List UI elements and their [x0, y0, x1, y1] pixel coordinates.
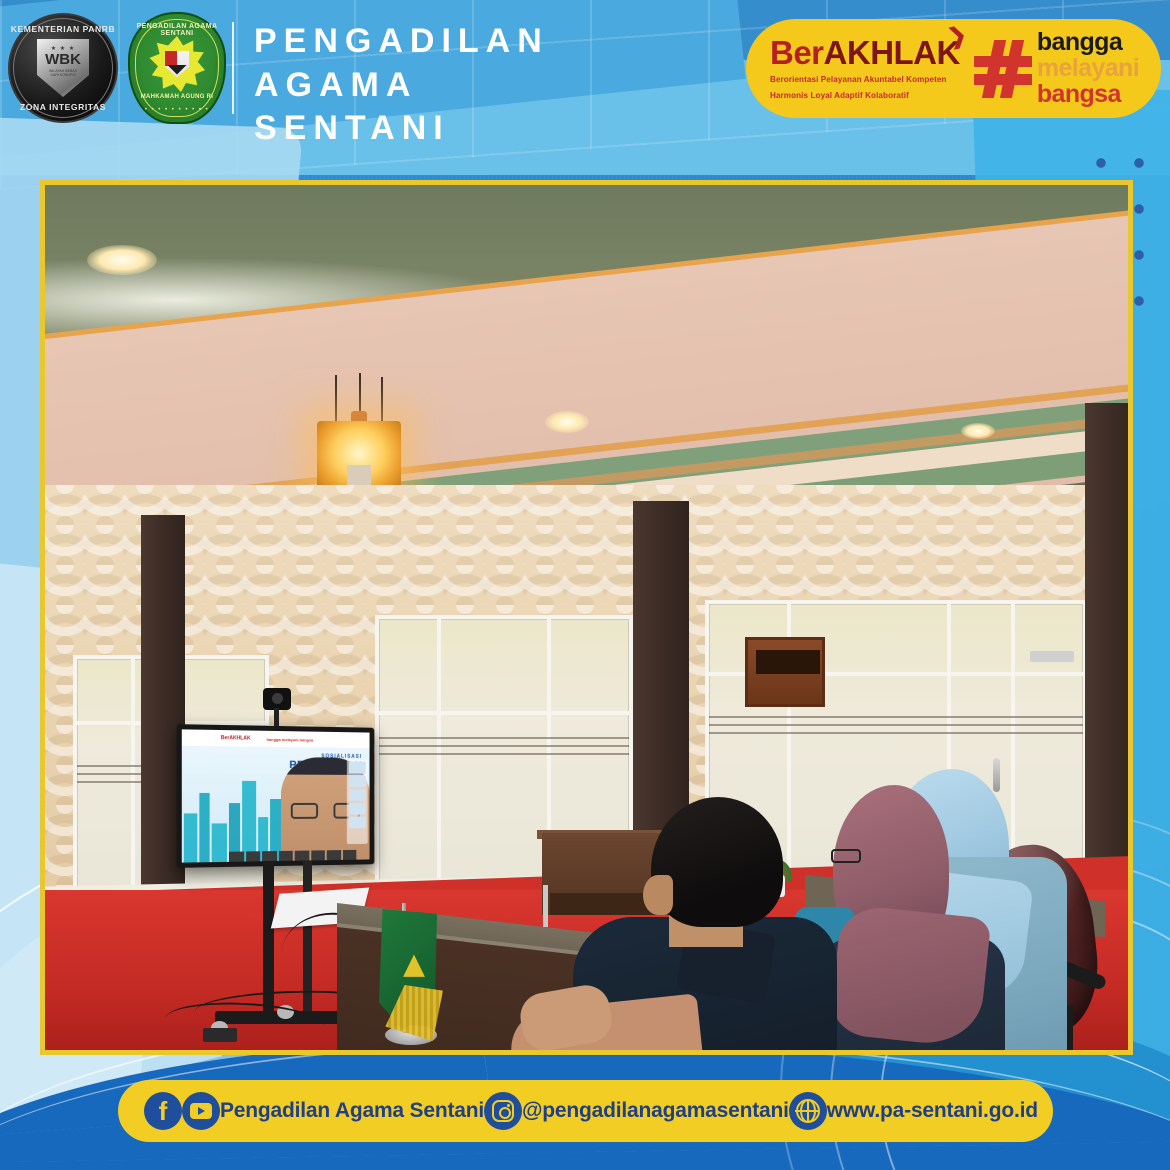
person-foreground-ear — [643, 875, 673, 915]
berakhlak-wordmark: BerAKHLAK❯ — [770, 36, 960, 69]
footer-contact-bar: f Pengadilan Agama Sentani @pengadilanag… — [118, 1080, 1053, 1142]
instagram-handle-label[interactable]: @pengadilanagamasentani — [522, 1099, 789, 1123]
instagram-icon[interactable] — [484, 1092, 522, 1130]
poster-canvas: KEMENTERIAN PANRB ZONA INTEGRITAS ★ ★ ★ … — [0, 0, 1170, 1170]
tv-bottom-thumbnails — [229, 850, 356, 862]
wbk-shield-sub2: DARI KORUPSI — [50, 73, 75, 77]
facebook-icon[interactable]: f — [144, 1092, 182, 1130]
emblem-arc-top-text: PENGADILAN AGAMA SENTANI — [130, 23, 224, 37]
poster-header: KEMENTERIAN PANRB ZONA INTEGRITAS ★ ★ ★ … — [0, 0, 1170, 140]
tagline-line-1: bangga — [1037, 30, 1139, 55]
wbk-shield-text: WBK — [45, 52, 81, 69]
berakhlak-suffix: AKHLAK — [824, 34, 960, 71]
tv-slide-topbar: BerAKHLAK bangga melayani bangsa — [182, 729, 370, 748]
wbk-ring-bottom-text: ZONA INTEGRITAS — [10, 102, 116, 112]
ceiling-downlight-icon — [87, 245, 157, 275]
interior-wooden-door — [745, 637, 825, 707]
wbk-zona-integritas-logo: KEMENTERIAN PANRB ZONA INTEGRITAS ★ ★ ★ … — [8, 13, 118, 123]
tv-bangga-logo: bangga melayani bangsa — [267, 736, 314, 742]
header-divider — [232, 22, 234, 114]
globe-icon[interactable] — [789, 1092, 827, 1130]
glasses-icon — [831, 849, 861, 863]
wbk-ring-top-text: KEMENTERIAN PANRB — [10, 24, 116, 34]
bangga-melayani-bangsa-lockup: bangga melayani bangsa — [974, 30, 1139, 107]
emblem-arc-bottom-text: MAHKAMAH AGUNG RI — [130, 94, 224, 100]
person-pink-hijab-scarf — [829, 904, 992, 1049]
hashtag-icon — [974, 40, 1032, 98]
door-handle-icon — [993, 758, 1000, 792]
pengadilan-agama-sentani-emblem: PENGADILAN AGAMA SENTANI MAHKAMAH AGUNG … — [128, 12, 226, 124]
berakhlak-values-line-2: Harmonis Loyal Adaptif Kolaboratif — [770, 90, 960, 101]
title-line-2: AGAMA — [254, 64, 549, 108]
title-line-1: PENGADILAN — [254, 20, 549, 64]
tv-screen: BerAKHLAK bangga melayani bangsa SOSIALI… — [182, 729, 370, 862]
meeting-room-photo: BerAKHLAK bangga melayani bangsa SOSIALI… — [45, 185, 1128, 1050]
tv-participant-strip — [347, 760, 368, 844]
youtube-icon[interactable] — [182, 1092, 220, 1130]
television-display: BerAKHLAK bangga melayani bangsa SOSIALI… — [177, 724, 375, 868]
berakhlak-text-block: BerAKHLAK❯ Berorientasi Pelayanan Akunta… — [746, 36, 960, 101]
photo-frame: BerAKHLAK bangga melayani bangsa SOSIALI… — [40, 180, 1133, 1055]
title-line-3: SENTANI — [254, 107, 549, 151]
pendant-lamp — [317, 421, 401, 493]
website-url-label[interactable]: www.pa-sentani.go.id — [827, 1099, 1038, 1123]
tagline-line-2: melayani — [1037, 56, 1139, 81]
desk-leg — [543, 885, 548, 927]
emblem-crest-icon — [165, 51, 189, 78]
social-handle-label[interactable]: Pengadilan Agama Sentani — [220, 1099, 484, 1123]
ceiling-downlight-icon — [545, 411, 589, 433]
bangga-tagline: bangga melayani bangsa — [1037, 30, 1139, 107]
emblem-dots: • • • • • • • • • • — [130, 107, 224, 113]
webcam-icon — [263, 688, 291, 710]
berakhlak-values-line-1: Berorientasi Pelayanan Akuntabel Kompete… — [770, 74, 960, 85]
tv-berakhlak-logo: BerAKHLAK — [221, 735, 251, 742]
ceiling-downlight-icon — [961, 423, 995, 439]
berakhlak-badge: BerAKHLAK❯ Berorientasi Pelayanan Akunta… — [746, 19, 1161, 118]
berakhlak-prefix: Ber — [770, 34, 824, 71]
tagline-line-3: bangsa — [1037, 82, 1139, 107]
page-title: PENGADILAN AGAMA SENTANI — [254, 20, 549, 151]
door-closer — [1030, 651, 1074, 662]
